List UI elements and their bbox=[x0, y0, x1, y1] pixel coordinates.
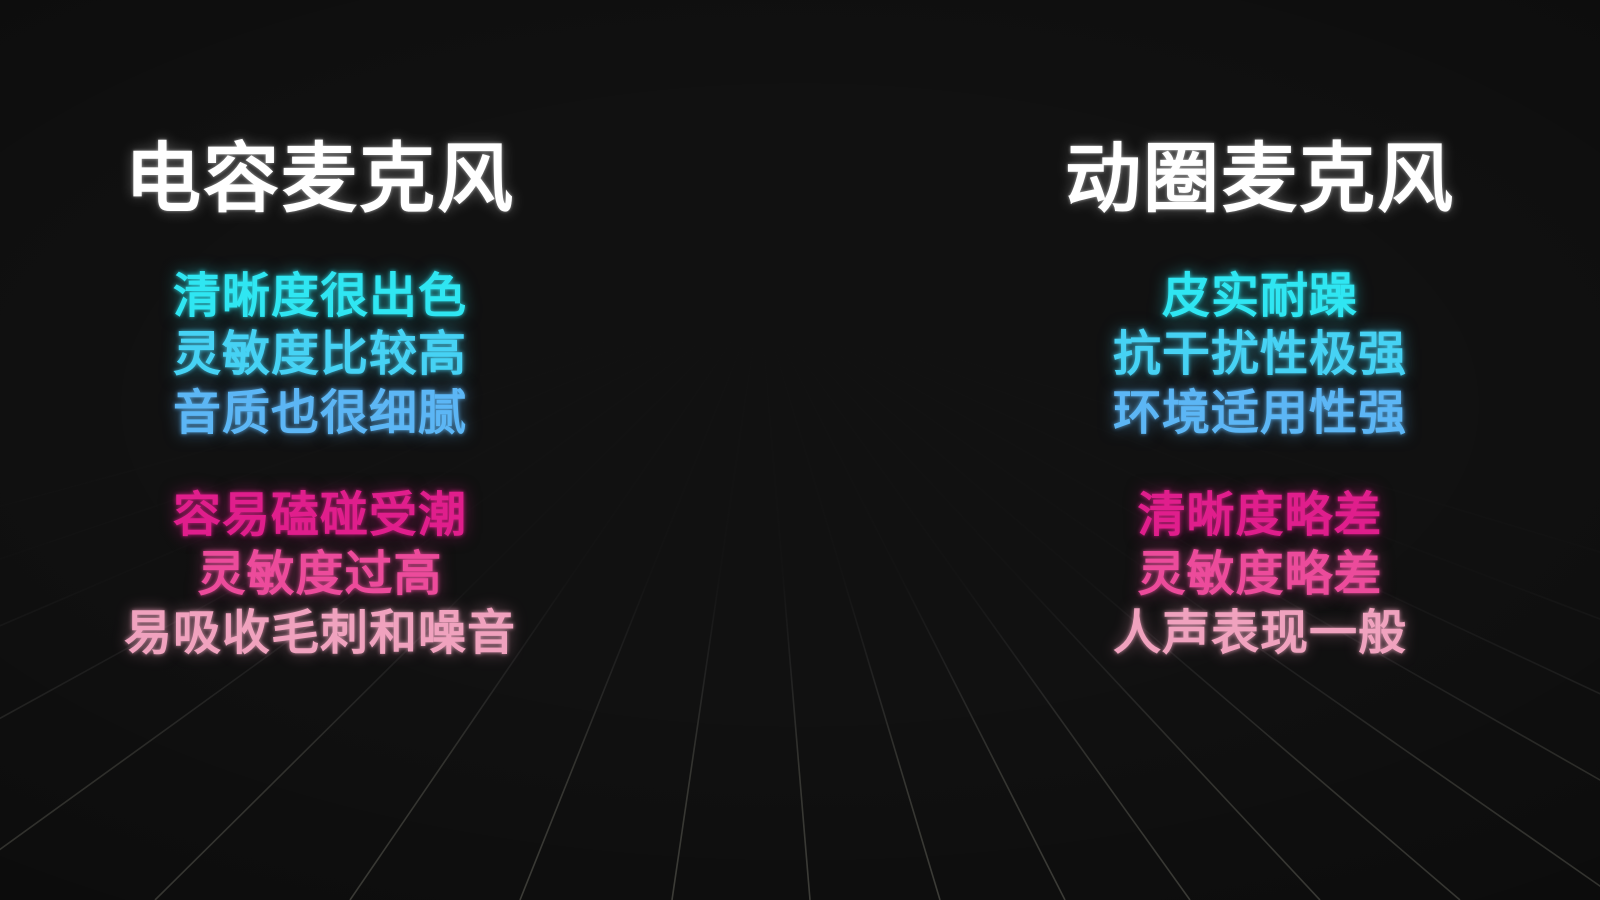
pro-item: 皮实耐躁 bbox=[1113, 268, 1407, 327]
column-title-condenser: 电容麦克风 bbox=[125, 140, 515, 220]
pro-item: 音质也很细腻 bbox=[173, 385, 467, 444]
slide-canvas: 电容麦克风 清晰度很出色 灵敏度比较高 音质也很细腻 容易磕碰受潮 灵敏度过高 … bbox=[0, 0, 1600, 900]
pro-item: 环境适用性强 bbox=[1113, 385, 1407, 444]
con-item: 清晰度略差 bbox=[1113, 487, 1407, 546]
con-item: 易吸收毛刺和噪音 bbox=[124, 605, 516, 664]
column-dynamic: 动圈麦克风 皮实耐躁 抗干扰性极强 环境适用性强 清晰度略差 灵敏度略差 人声表… bbox=[800, 0, 1600, 900]
pros-list-dynamic: 皮实耐躁 抗干扰性极强 环境适用性强 bbox=[1113, 268, 1407, 444]
pro-item: 清晰度很出色 bbox=[173, 268, 467, 327]
pro-item: 灵敏度比较高 bbox=[173, 326, 467, 385]
pros-list-condenser: 清晰度很出色 灵敏度比较高 音质也很细腻 bbox=[173, 268, 467, 444]
comparison-columns: 电容麦克风 清晰度很出色 灵敏度比较高 音质也很细腻 容易磕碰受潮 灵敏度过高 … bbox=[0, 0, 1600, 900]
pro-item: 抗干扰性极强 bbox=[1113, 326, 1407, 385]
con-item: 灵敏度略差 bbox=[1113, 546, 1407, 605]
cons-list-condenser: 容易磕碰受潮 灵敏度过高 易吸收毛刺和噪音 bbox=[124, 487, 516, 663]
cons-list-dynamic: 清晰度略差 灵敏度略差 人声表现一般 bbox=[1113, 487, 1407, 663]
con-item: 人声表现一般 bbox=[1113, 605, 1407, 664]
column-condenser: 电容麦克风 清晰度很出色 灵敏度比较高 音质也很细腻 容易磕碰受潮 灵敏度过高 … bbox=[0, 0, 800, 900]
column-title-dynamic: 动圈麦克风 bbox=[1065, 140, 1455, 220]
con-item: 容易磕碰受潮 bbox=[124, 487, 516, 546]
con-item: 灵敏度过高 bbox=[124, 546, 516, 605]
